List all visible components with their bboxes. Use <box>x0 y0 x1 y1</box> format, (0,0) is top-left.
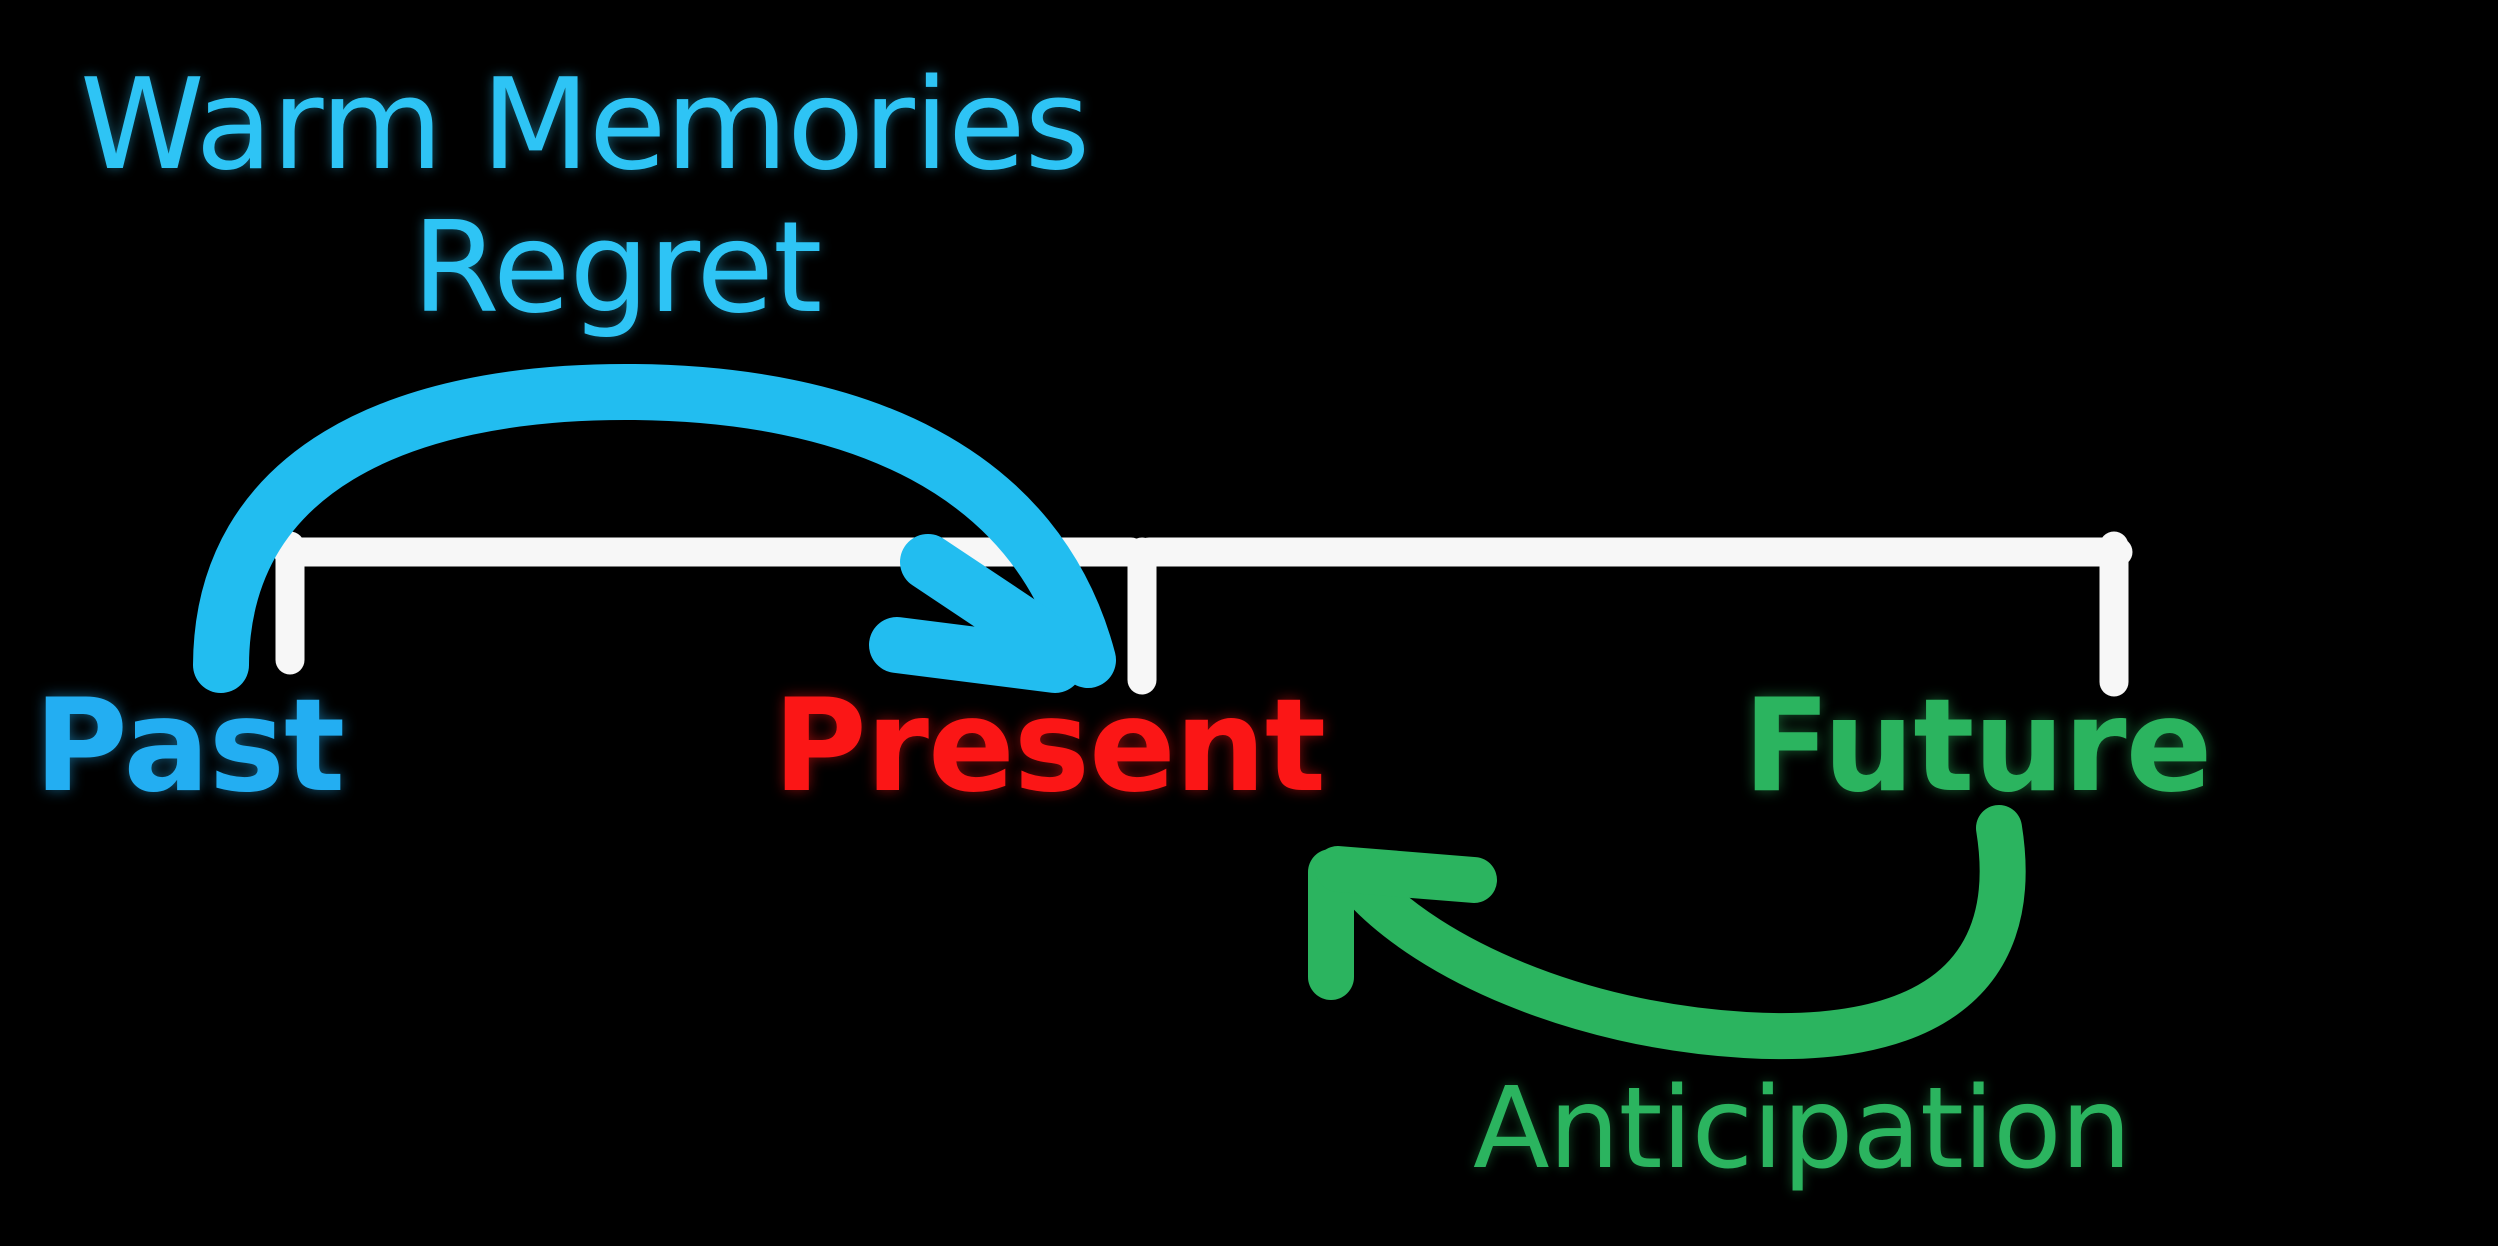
timeline-diagram: Warm Memories Regret Past Present Future… <box>0 0 2498 1246</box>
timeline-label-future: Future <box>1743 683 2211 811</box>
arrow-future-head-right <box>1338 869 1474 880</box>
arrow-past-arc <box>221 392 1088 665</box>
anticipation-label: Anticipation <box>1473 1073 2131 1185</box>
timeline-label-present: Present <box>773 683 1325 811</box>
regret-label: Regret <box>412 205 821 331</box>
timeline-label-past: Past <box>34 683 344 811</box>
arrow-future-to-present <box>1331 828 2003 1036</box>
warm-memories-label: Warm Memories <box>80 62 1089 188</box>
timeline-axis <box>288 546 2118 682</box>
arrow-past-to-present <box>221 392 1088 665</box>
arrow-past-head-lower <box>897 645 1055 665</box>
